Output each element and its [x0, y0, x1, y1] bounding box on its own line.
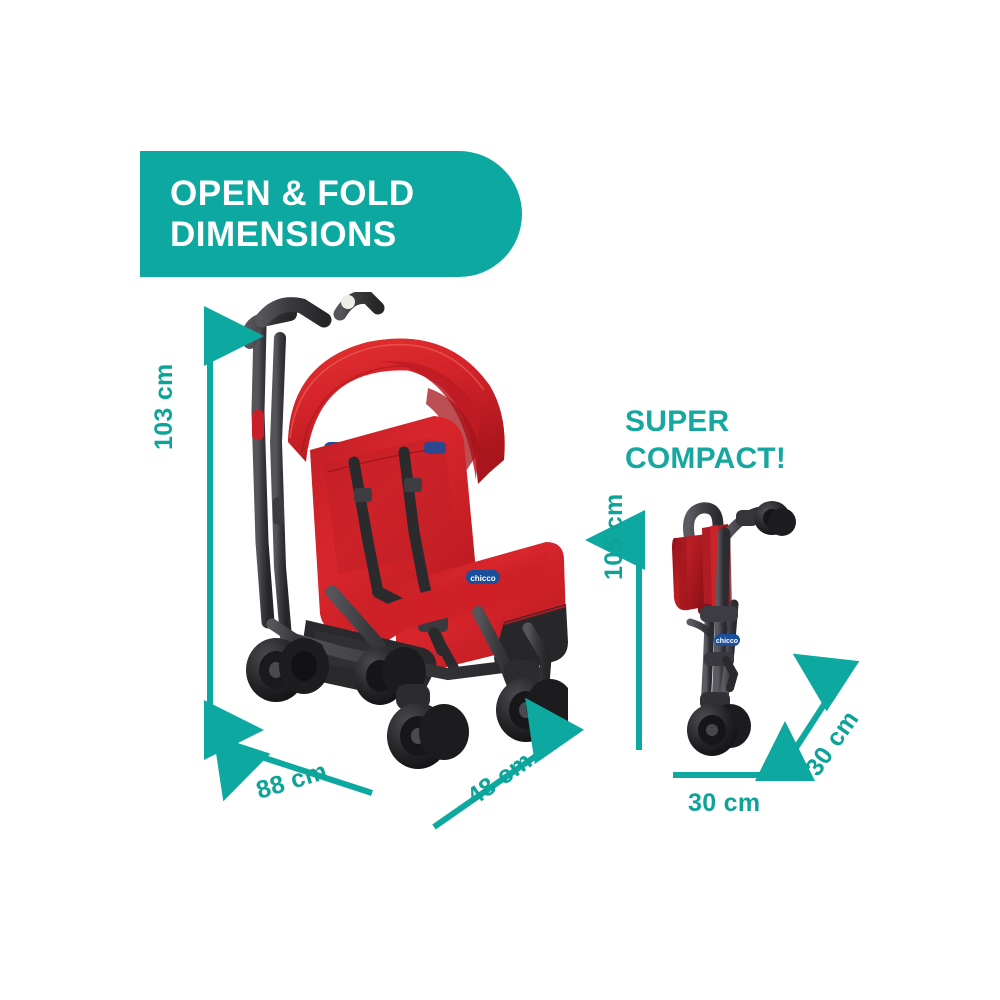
wheel-rear-left [246, 638, 329, 702]
folded-top-wheels [726, 501, 796, 536]
dimension-label-folded-height-105: 105 cm [600, 493, 629, 580]
header-banner: OPEN & FOLD DIMENSIONS [140, 151, 522, 277]
compact-heading-line-2: COMPACT! [625, 441, 855, 478]
folded-bottom-wheels [687, 692, 751, 756]
frame-red-accent [252, 410, 264, 440]
banner-title-line-1: OPEN & FOLD [170, 173, 522, 214]
dimension-label-height-103: 103 cm [150, 363, 179, 450]
wheel-front-left [387, 684, 469, 769]
folded-stroller-illustration: chicco [660, 492, 810, 772]
svg-text:chicco: chicco [716, 638, 738, 645]
compact-heading-line-1: SUPER [625, 404, 855, 441]
infographic-canvas: OPEN & FOLD DIMENSIONS [0, 0, 1000, 1000]
handle-cap [341, 295, 355, 309]
wheel-front-right [496, 660, 568, 742]
open-stroller-illustration: chicco [228, 292, 568, 772]
super-compact-heading: SUPER COMPACT! [625, 404, 855, 477]
stroller-rear-frame [249, 314, 290, 637]
dimension-label-folded-width-30: 30 cm [688, 789, 760, 818]
svg-text:chicco: chicco [470, 574, 495, 583]
banner-title-line-2: DIMENSIONS [170, 214, 522, 255]
